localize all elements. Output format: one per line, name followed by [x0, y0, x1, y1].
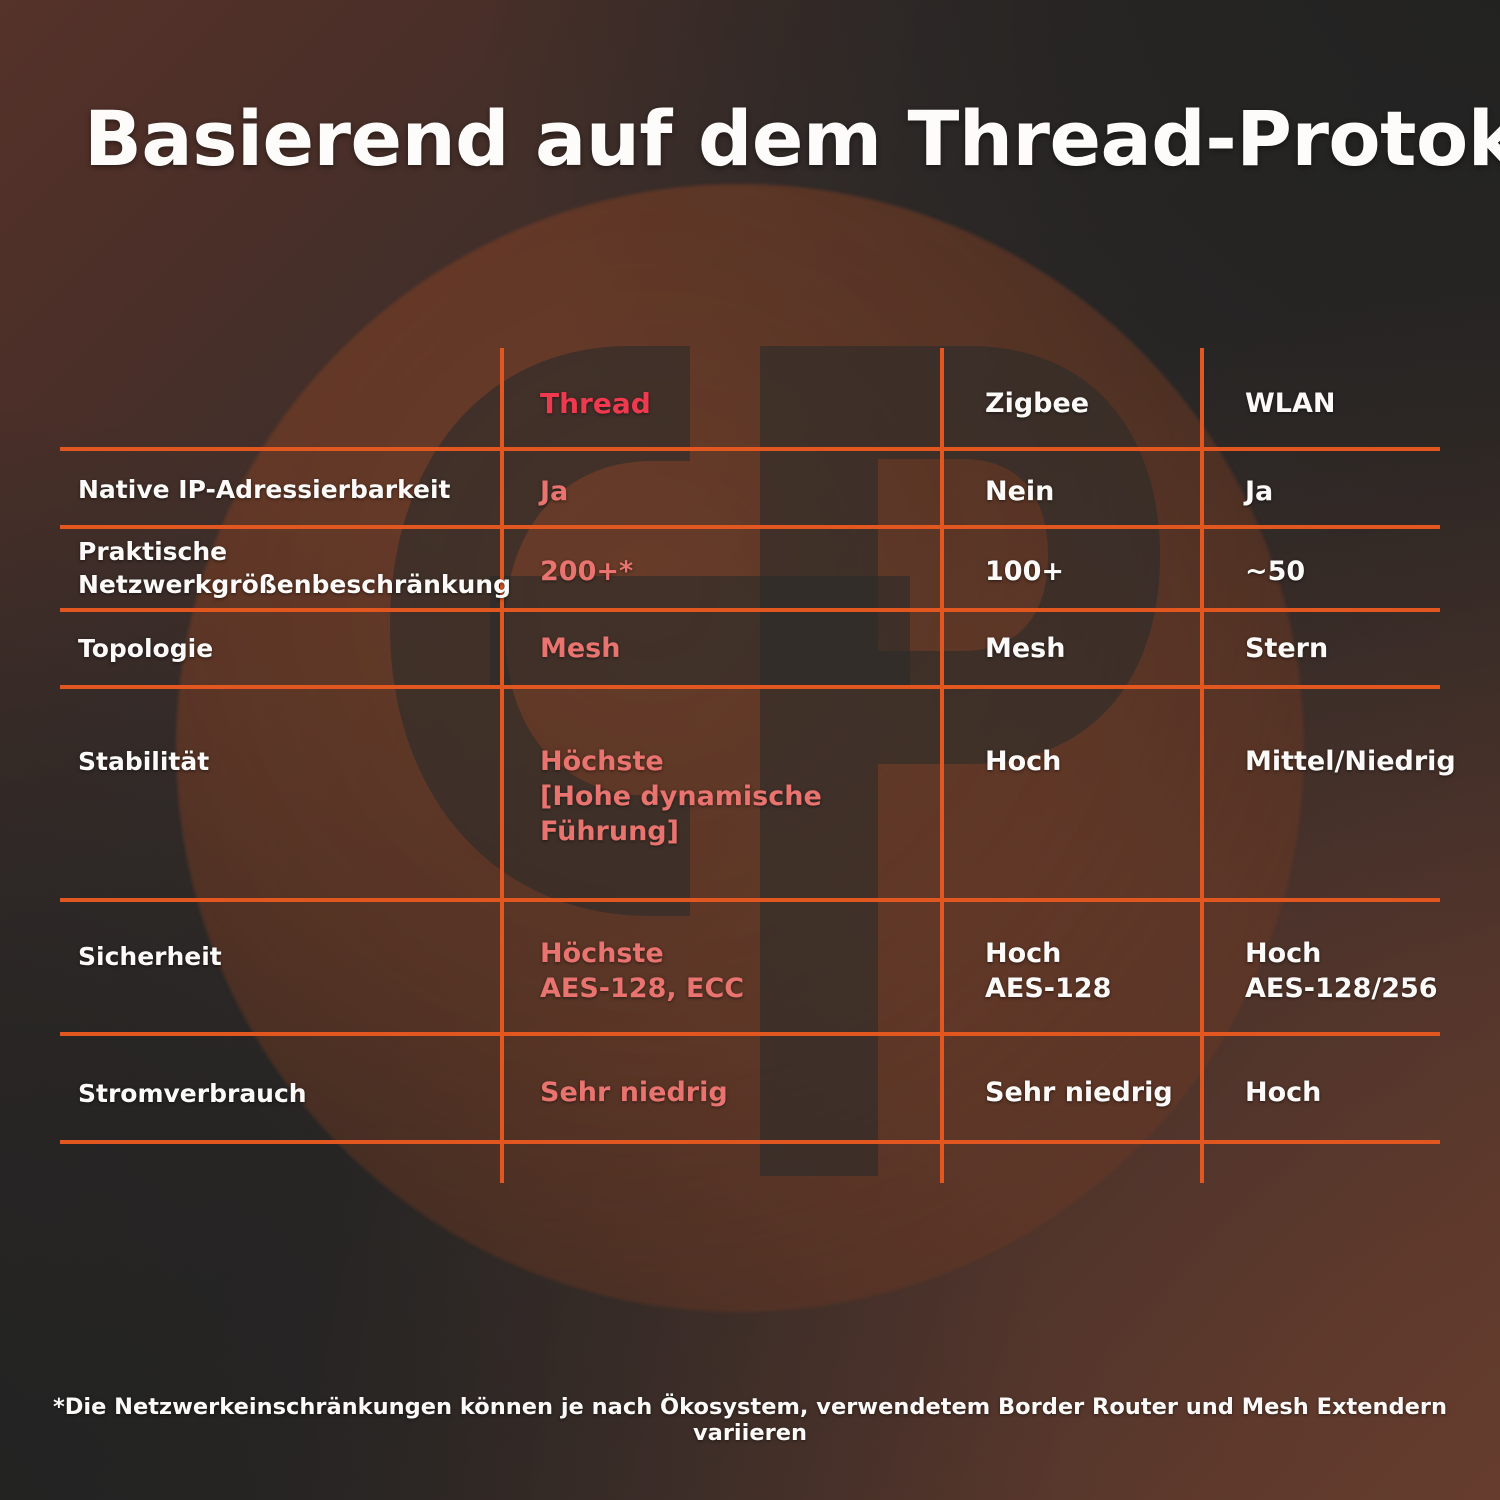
row-label-native-ip: Native IP-Adressierbarkeit: [78, 474, 488, 507]
column-header-wlan: WLAN: [1245, 386, 1460, 421]
cell-wlan-stromverbrauch: Hoch: [1245, 1075, 1460, 1110]
row-divider-header: [60, 447, 1440, 451]
row-label-topologie: Topologie: [78, 633, 488, 666]
cell-thread-sicherheit-main: Höchste: [540, 936, 970, 971]
cell-zigbee-stromverbrauch: Sehr niedrig: [985, 1075, 1225, 1110]
row-label-network-size-line1: Praktische: [78, 536, 488, 569]
cell-wlan-topologie: Stern: [1245, 631, 1460, 666]
comparison-table: Thread Zigbee WLAN Native IP-Adressierba…: [60, 348, 1440, 1183]
row-label-stabilitaet: Stabilität: [78, 746, 488, 779]
cell-zigbee-sicherheit-detail: AES-128: [985, 971, 1225, 1006]
row-divider-2: [60, 608, 1440, 612]
row-divider-1: [60, 525, 1440, 529]
page-title: Basierend auf dem Thread-Protokoll: [84, 96, 1454, 182]
row-label-network-size: Praktische Netzwerkgrößenbeschränkung: [78, 536, 488, 601]
cell-zigbee-sicherheit-main: Hoch: [985, 936, 1225, 971]
cell-thread-network-size: 200+*: [540, 554, 970, 589]
footnote-text: *Die Netzwerkeinschränkungen können je n…: [0, 1394, 1500, 1446]
row-divider-bottom: [60, 1140, 1440, 1144]
cell-zigbee-sicherheit: Hoch AES-128: [985, 936, 1225, 1006]
row-label-network-size-line2: Netzwerkgrößenbeschränkung: [78, 569, 488, 602]
row-divider-5: [60, 1032, 1440, 1036]
cell-zigbee-topologie: Mesh: [985, 631, 1225, 666]
cell-thread-native-ip: Ja: [540, 474, 970, 509]
row-divider-4: [60, 898, 1440, 902]
row-divider-3: [60, 685, 1440, 689]
cell-zigbee-stabilitaet: Hoch: [985, 744, 1225, 779]
row-label-stromverbrauch: Stromverbrauch: [78, 1078, 488, 1111]
cell-thread-stabilitaet-note: [Hohe dynamische Führung]: [540, 779, 970, 849]
cell-wlan-sicherheit-main: Hoch: [1245, 936, 1460, 971]
infographic-canvas: Basierend auf dem Thread-Protokoll Threa…: [0, 0, 1500, 1500]
column-header-zigbee: Zigbee: [985, 386, 1225, 421]
cell-wlan-stabilitaet: Mittel/Niedrig: [1245, 744, 1460, 779]
cell-thread-stromverbrauch: Sehr niedrig: [540, 1075, 970, 1110]
cell-wlan-network-size: ~50: [1245, 554, 1460, 589]
cell-thread-stabilitaet-main: Höchste: [540, 744, 970, 779]
column-divider-thread: [500, 348, 504, 1183]
cell-thread-sicherheit: Höchste AES-128, ECC: [540, 936, 970, 1006]
cell-wlan-native-ip: Ja: [1245, 474, 1460, 509]
row-label-sicherheit: Sicherheit: [78, 941, 488, 974]
cell-zigbee-native-ip: Nein: [985, 474, 1225, 509]
cell-zigbee-network-size: 100+: [985, 554, 1225, 589]
column-header-thread: Thread: [540, 386, 970, 422]
cell-thread-topologie: Mesh: [540, 631, 970, 666]
cell-thread-stabilitaet: Höchste [Hohe dynamische Führung]: [540, 744, 970, 849]
cell-thread-sicherheit-detail: AES-128, ECC: [540, 971, 970, 1006]
cell-wlan-sicherheit-detail: AES-128/256: [1245, 971, 1460, 1006]
cell-wlan-sicherheit: Hoch AES-128/256: [1245, 936, 1460, 1006]
